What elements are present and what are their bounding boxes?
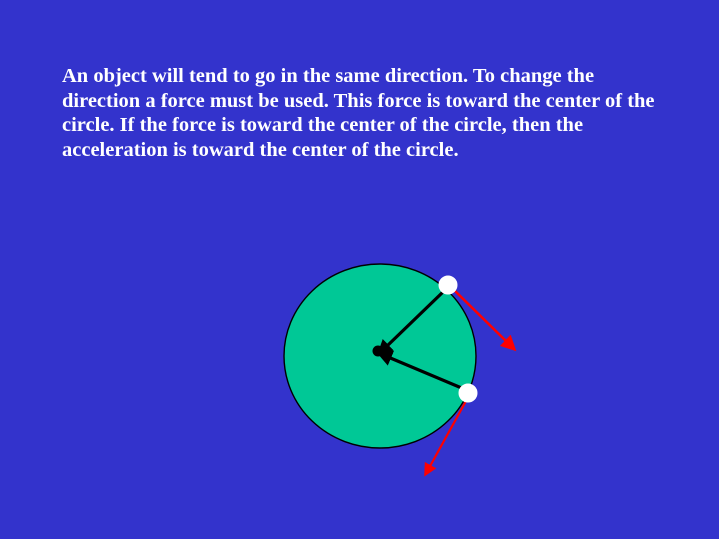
centripetal-force-diagram: [0, 0, 719, 539]
upper-object-dot: [439, 276, 457, 294]
center-dot: [373, 346, 384, 357]
lower-object-dot: [459, 384, 477, 402]
slide-canvas: An object will tend to go in the same di…: [0, 0, 719, 539]
